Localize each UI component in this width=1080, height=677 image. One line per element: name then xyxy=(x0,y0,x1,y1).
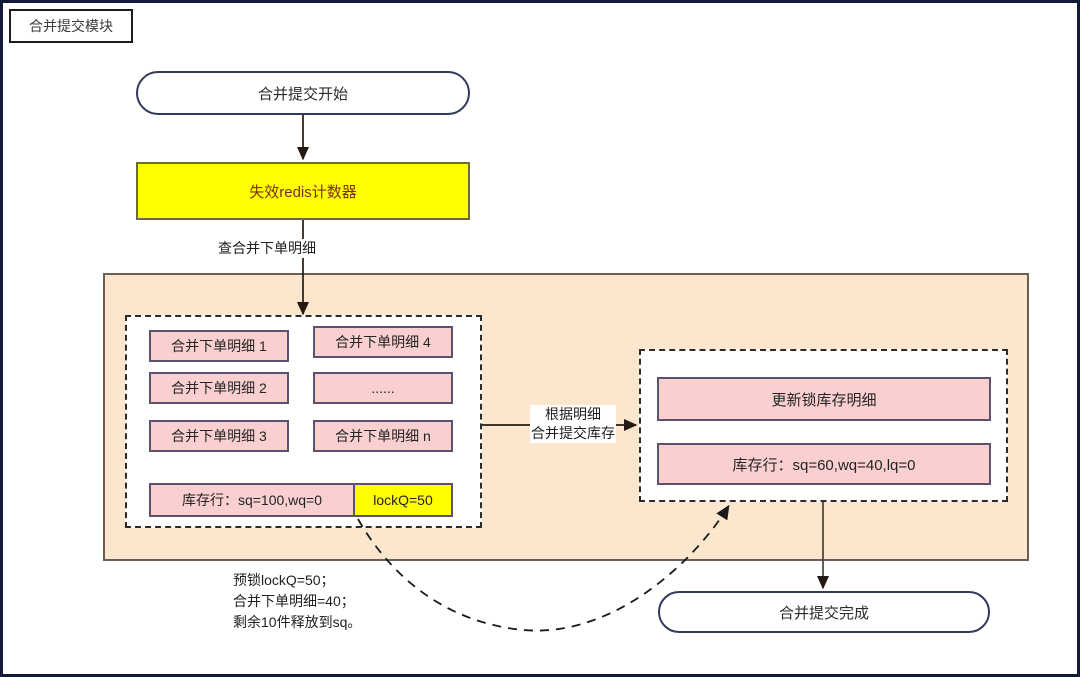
inventory-row-after-label: 库存行：sq=60,wq=40,lq=0 xyxy=(732,454,915,475)
node-merge-submit-start-label: 合并提交开始 xyxy=(258,83,348,104)
node-invalidate-redis-counter-label: 失效redis计数器 xyxy=(249,181,357,202)
detail-box-3-label: 合并下单明细 3 xyxy=(171,426,267,446)
module-tab[interactable]: 合并提交模块 xyxy=(9,9,133,43)
detail-box-1[interactable]: 合并下单明细 1 xyxy=(149,330,289,362)
detail-box-ellipsis-label: ...... xyxy=(371,380,394,396)
inventory-row-after[interactable]: 库存行：sq=60,wq=40,lq=0 xyxy=(657,443,991,485)
edge-label-merge-inventory-line2: 合并提交库存 xyxy=(530,424,616,443)
detail-box-3[interactable]: 合并下单明细 3 xyxy=(149,420,289,452)
node-invalidate-redis-counter[interactable]: 失效redis计数器 xyxy=(136,162,470,220)
inventory-row-before-label: 库存行：sq=100,wq=0 xyxy=(151,485,353,515)
detail-box-ellipsis[interactable]: ...... xyxy=(313,372,453,404)
inventory-row-before[interactable]: 库存行：sq=100,wq=0 lockQ=50 xyxy=(149,483,453,517)
node-merge-submit-complete-label: 合并提交完成 xyxy=(779,602,869,623)
note-lock-release: 预锁lockQ=50； 合并下单明细=40； 剩余10件释放到sq。 xyxy=(233,570,361,633)
module-tab-label: 合并提交模块 xyxy=(29,16,113,36)
detail-box-n[interactable]: 合并下单明细 n xyxy=(313,420,453,452)
inventory-row-lock-segment: lockQ=50 xyxy=(353,485,451,515)
detail-box-4-label: 合并下单明细 4 xyxy=(335,332,431,352)
node-update-lock-inventory-detail-label: 更新锁库存明细 xyxy=(771,389,876,410)
detail-box-4[interactable]: 合并下单明细 4 xyxy=(313,326,453,358)
detail-box-2-label: 合并下单明细 2 xyxy=(171,378,267,398)
edge-label-merge-inventory: 根据明细 合并提交库存 xyxy=(530,405,616,443)
detail-box-1-label: 合并下单明细 1 xyxy=(171,336,267,356)
node-merge-submit-complete[interactable]: 合并提交完成 xyxy=(658,591,990,633)
detail-box-2[interactable]: 合并下单明细 2 xyxy=(149,372,289,404)
detail-box-n-label: 合并下单明细 n xyxy=(335,426,431,446)
edge-label-merge-inventory-line1: 根据明细 xyxy=(530,405,616,424)
node-merge-submit-start[interactable]: 合并提交开始 xyxy=(136,71,470,115)
edge-label-query-detail: 查合并下单明细 xyxy=(216,239,318,258)
node-update-lock-inventory-detail[interactable]: 更新锁库存明细 xyxy=(657,377,991,421)
diagram-canvas: 合并提交模块 合并提交开始 失效redis计数器 合并下单明细 1 合并下单明细… xyxy=(0,0,1080,677)
